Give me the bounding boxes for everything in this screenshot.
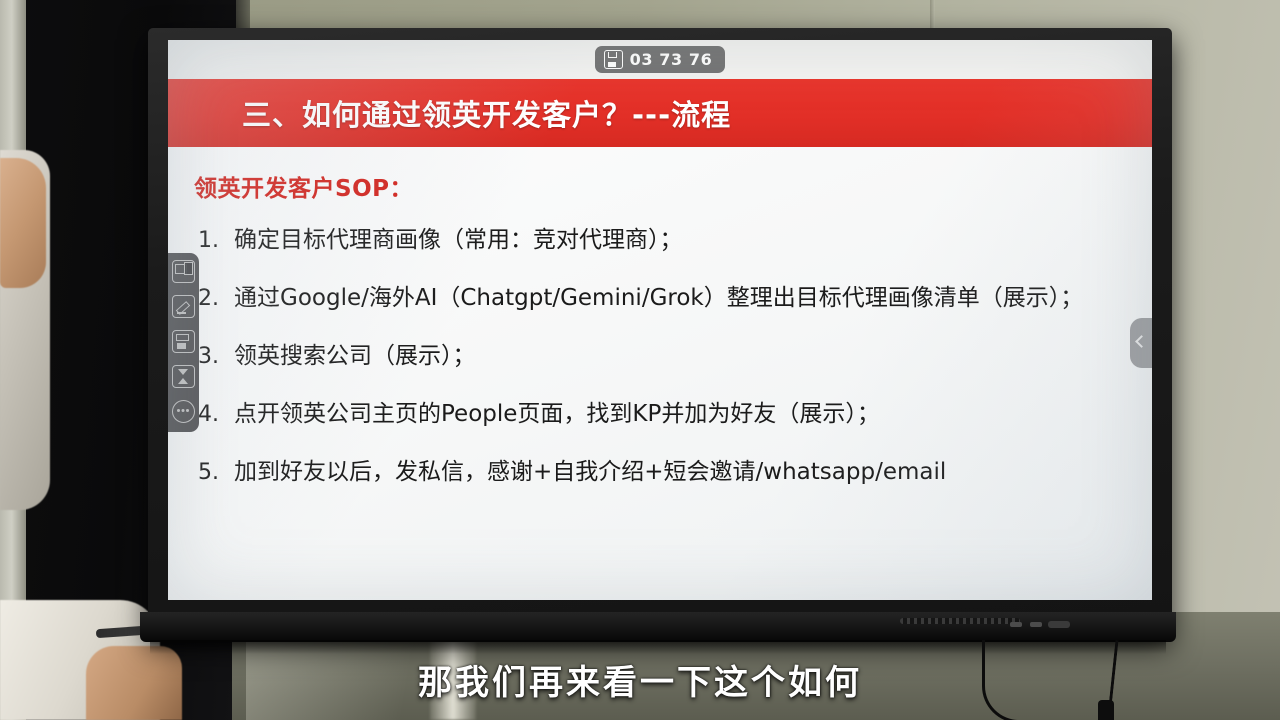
slide-title: 三、如何通过领英开发客户？---流程 <box>242 92 731 134</box>
video-subtitle: 那我们再来看一下这个如何 <box>0 655 1280 704</box>
pen-annotate-icon[interactable] <box>172 295 195 318</box>
window-switch-icon[interactable] <box>172 260 195 283</box>
tv-port <box>1030 622 1042 627</box>
list-item-number: 2. <box>198 288 234 310</box>
recording-bar: 03 73 76 <box>168 40 1152 79</box>
list-item-number: 3. <box>198 346 234 368</box>
more-options-icon[interactable] <box>172 400 195 423</box>
save-icon[interactable] <box>172 330 195 353</box>
slide-title-band: 三、如何通过领英开发客户？---流程 <box>168 79 1152 147</box>
list-item-text: 点开领英公司主页的People页面，找到KP并加为好友（展示）； <box>234 403 880 426</box>
sop-heading: 领英开发客户SOP： <box>194 169 1152 203</box>
scene-photo: 03 73 76 三、如何通过领英开发客户？---流程 领英开发客户SOP： 1… <box>0 0 1280 720</box>
sop-list: 1. 确定目标代理商画像（常用：竞对代理商）； 2. 通过Google/海外AI… <box>168 229 1152 484</box>
recording-badge[interactable]: 03 73 76 <box>595 46 726 73</box>
screen-side-toolbar[interactable] <box>168 253 199 432</box>
save-disk-icon <box>604 50 623 69</box>
tv-port <box>1010 622 1022 627</box>
list-item: 3. 领英搜索公司（展示）； <box>168 345 1152 368</box>
list-item: 2. 通过Google/海外AI（Chatgpt/Gemini/Grok）整理出… <box>168 287 1152 310</box>
hourglass-timer-icon[interactable] <box>172 365 195 388</box>
list-item-number: 1. <box>198 230 234 252</box>
recording-timer: 03 73 76 <box>630 50 713 69</box>
tv-screen: 03 73 76 三、如何通过领英开发客户？---流程 领英开发客户SOP： 1… <box>168 40 1152 600</box>
tv-ir-sensor <box>1048 621 1070 628</box>
list-item: 1. 确定目标代理商画像（常用：竞对代理商）； <box>168 229 1152 252</box>
list-item: 5. 加到好友以后，发私信，感谢+自我介绍+短会邀请/whatsapp/emai… <box>168 461 1152 484</box>
list-item-number: 5. <box>198 462 234 484</box>
tv-bottom-bezel <box>140 612 1176 642</box>
presenter-hand-upper <box>0 158 46 288</box>
chevron-left-icon[interactable] <box>1130 318 1152 368</box>
tv-speaker-grille <box>900 618 1020 624</box>
list-item: 4. 点开领英公司主页的People页面，找到KP并加为好友（展示）； <box>168 403 1152 426</box>
slide-body: 领英开发客户SOP： 1. 确定目标代理商画像（常用：竞对代理商）； 2. 通过… <box>168 147 1152 600</box>
list-item-text: 领英搜索公司（展示）； <box>234 345 476 368</box>
list-item-number: 4. <box>198 404 234 426</box>
list-item-text: 确定目标代理商画像（常用：竞对代理商）； <box>234 229 683 252</box>
list-item-text: 通过Google/海外AI（Chatgpt/Gemini/Grok）整理出目标代… <box>234 287 1083 310</box>
list-item-text: 加到好友以后，发私信，感谢+自我介绍+短会邀请/whatsapp/email <box>234 461 946 484</box>
